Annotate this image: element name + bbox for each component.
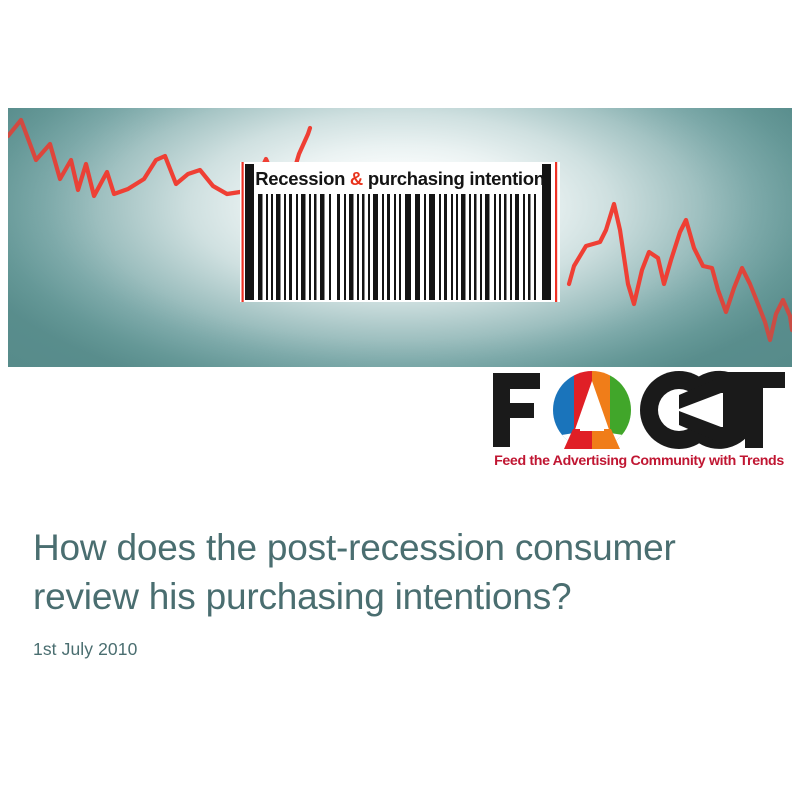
fact-tagline: Feed the Advertising Community with Tren…: [489, 453, 789, 469]
logo-letter-f: [493, 373, 540, 447]
page-title: How does the post-recession consumer rev…: [33, 523, 753, 621]
logo-emblem-a: [553, 371, 632, 451]
trend-line-right: [569, 204, 792, 340]
fact-logo: Feed the Advertising Community with Tren…: [489, 369, 789, 479]
barcode-caption-ampersand: &: [350, 168, 363, 189]
presentation-date: 1st July 2010: [33, 639, 753, 660]
barcode-caption-prefix: Recession: [255, 168, 350, 189]
barcode-caption-suffix: purchasing intention: [363, 168, 545, 189]
title-slide: Recession & purchasing intention: [0, 0, 800, 800]
fact-wordmark: [489, 369, 789, 451]
barcode-caption: Recession & purchasing intention: [252, 166, 548, 192]
headline-block: How does the post-recession consumer rev…: [33, 523, 753, 660]
